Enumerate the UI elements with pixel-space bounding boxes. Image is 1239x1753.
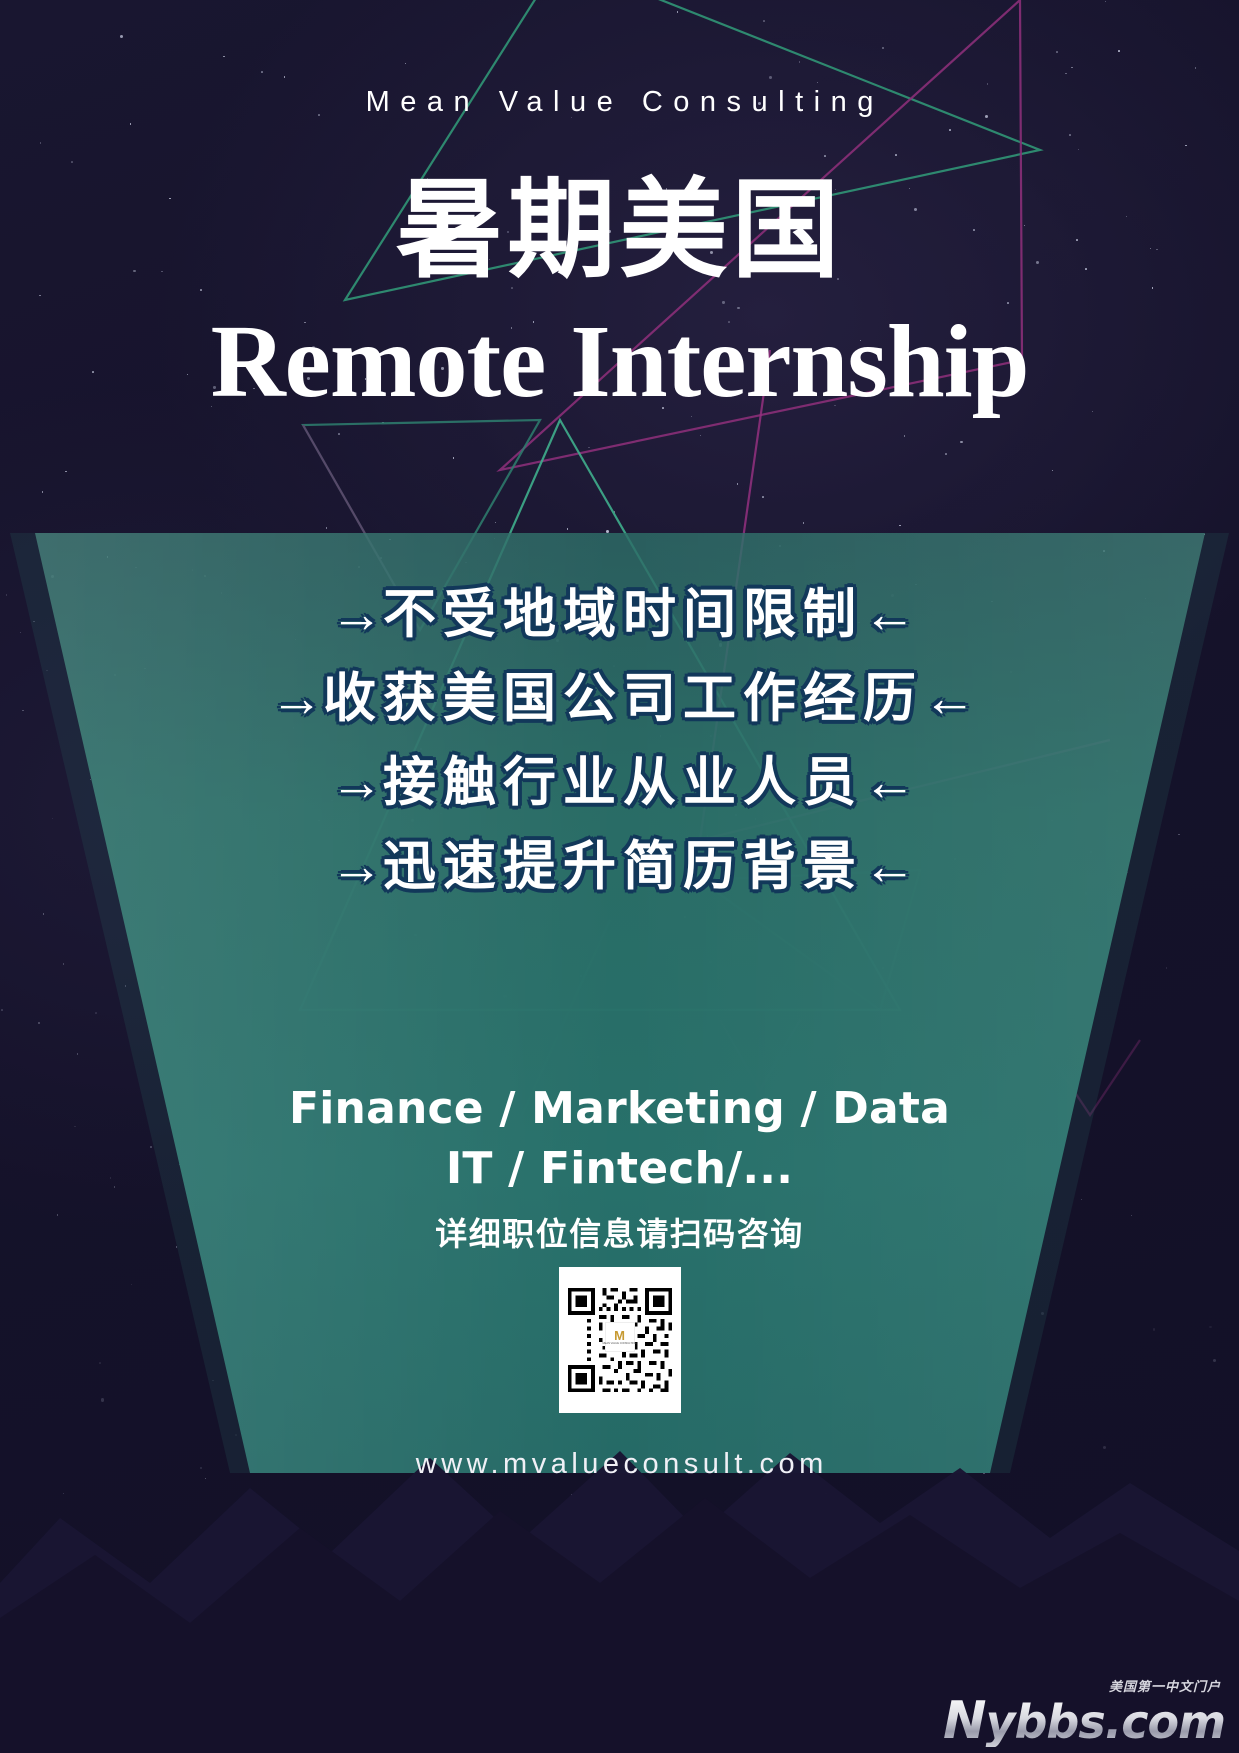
- benefit-text: 收获美国公司工作经历: [323, 669, 923, 728]
- poster-content: Mean Value Consulting 暑期美国 Remote Intern…: [0, 0, 1239, 1753]
- benefit-text: 不受地域时间限制: [383, 585, 863, 644]
- watermark-logo: Nybbs.com: [943, 1695, 1225, 1747]
- arrow-left-icon: ←: [863, 837, 916, 896]
- qr-center-logo: M MEAN VALUE CONSULTING: [605, 1322, 635, 1352]
- field-list: Finance / Marketing / Data IT / Fintech/…: [0, 1079, 1239, 1199]
- arrow-left-icon: ←: [923, 669, 976, 728]
- website-url[interactable]: www.mvalueconsult.com: [0, 1448, 1239, 1481]
- arrow-right-icon: →: [330, 585, 383, 644]
- list-item: →迅速提升简历背景←: [0, 825, 1239, 909]
- qr-logo-mark: M: [614, 1329, 625, 1342]
- benefit-list: →不受地域时间限制← →收获美国公司工作经历← →接触行业从业人员← →迅速提升…: [0, 573, 1239, 909]
- list-item: →收获美国公司工作经历←: [0, 657, 1239, 741]
- scan-instruction: 详细职位信息请扫码咨询: [0, 1209, 1239, 1255]
- watermark-initial: N: [943, 1691, 986, 1751]
- arrow-left-icon: ←: [863, 753, 916, 812]
- page-title-en: Remote Internship: [0, 310, 1239, 414]
- field-line-1: Finance / Marketing / Data: [0, 1079, 1239, 1139]
- brand-name: Mean Value Consulting: [0, 86, 1239, 119]
- benefit-text: 接触行业从业人员: [383, 753, 863, 812]
- arrow-right-icon: →: [270, 669, 323, 728]
- field-line-2: IT / Fintech/...: [0, 1139, 1239, 1199]
- poster-canvas: Mean Value Consulting 暑期美国 Remote Intern…: [0, 0, 1239, 1753]
- benefit-text: 迅速提升简历背景: [383, 837, 863, 896]
- arrow-right-icon: →: [330, 837, 383, 896]
- qr-logo-sub: MEAN VALUE CONSULTING: [602, 1342, 636, 1345]
- arrow-right-icon: →: [330, 753, 383, 812]
- list-item: →接触行业从业人员←: [0, 741, 1239, 825]
- watermark-domain: ybbs.com: [986, 1695, 1226, 1749]
- qr-code[interactable]: M MEAN VALUE CONSULTING: [559, 1267, 681, 1413]
- list-item: →不受地域时间限制←: [0, 573, 1239, 657]
- page-title-cn: 暑期美国: [0, 172, 1239, 289]
- watermark: 美国第一中文门户 Nybbs.com: [943, 1680, 1225, 1747]
- arrow-left-icon: ←: [863, 585, 916, 644]
